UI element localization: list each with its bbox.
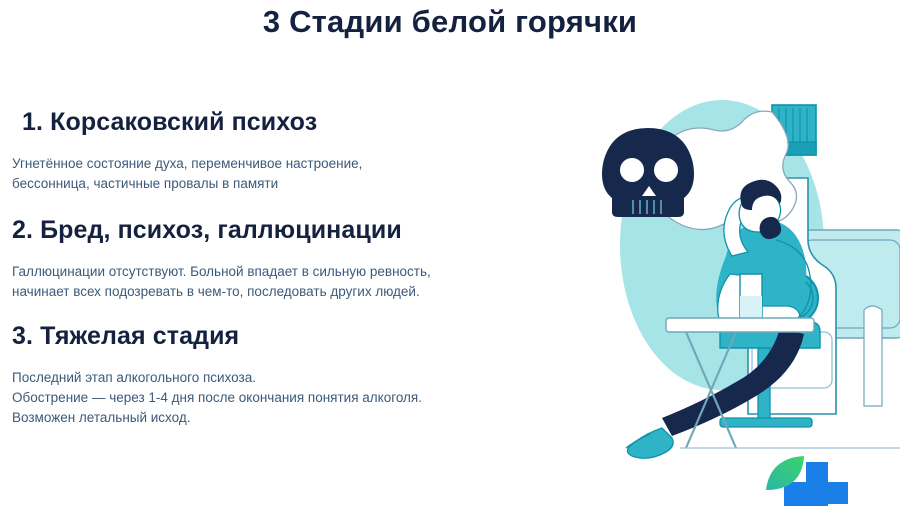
drinking-glass-liquid: [740, 296, 762, 320]
stage-3-body-line: Последний этап алкогольного психоза.: [12, 368, 600, 388]
armchair-base: [720, 418, 812, 427]
stage-2-body-line: начинает всех подозревать в чем-то, посл…: [12, 282, 600, 302]
stage-3-body-line: Обострение — через 1-4 дня после окончан…: [12, 388, 600, 408]
stage-1-heading: 1. Корсаковский психоз: [0, 108, 600, 137]
stage-3-body-line: Возможен летальный исход.: [12, 408, 600, 428]
medical-cross-leaf-logo: [766, 456, 848, 506]
stage-1-body-line: бессонница, частичные провалы в памяти: [12, 174, 600, 194]
stage-2-body-line: Галлюцинации отсутствуют. Больной впадае…: [12, 262, 600, 282]
skull-eye-right: [654, 158, 678, 182]
person-shoe: [627, 428, 673, 458]
stage-2-body: Галлюцинации отсутствуют. Больной впадае…: [0, 262, 600, 302]
stage-item-2: 2. Бред, психоз, галлюцинации Галлюцинац…: [0, 216, 600, 302]
stage-item-3: 3. Тяжелая стадия Последний этап алкогол…: [0, 322, 600, 428]
stage-3-body: Последний этап алкогольного психоза. Обо…: [0, 368, 600, 428]
delirium-tremens-illustration: [580, 60, 900, 506]
page-title: 3 Стадии белой горячки: [0, 4, 900, 40]
stage-1-body: Угнетённое состояние духа, переменчивое …: [0, 154, 600, 194]
slide-root: 3 Стадии белой горячки 1. Корсаковский п…: [0, 0, 900, 506]
table-top: [666, 318, 814, 332]
stage-3-heading: 3. Тяжелая стадия: [0, 322, 600, 351]
stage-2-heading: 2. Бред, психоз, галлюцинации: [0, 216, 600, 245]
skull-eye-left: [620, 158, 644, 182]
stage-item-1: 1. Корсаковский психоз Угнетённое состоя…: [0, 108, 600, 194]
skull-icon: [602, 128, 694, 217]
stage-1-body-line: Угнетённое состояние духа, переменчивое …: [12, 154, 600, 174]
armchair-side-panel: [864, 306, 882, 406]
